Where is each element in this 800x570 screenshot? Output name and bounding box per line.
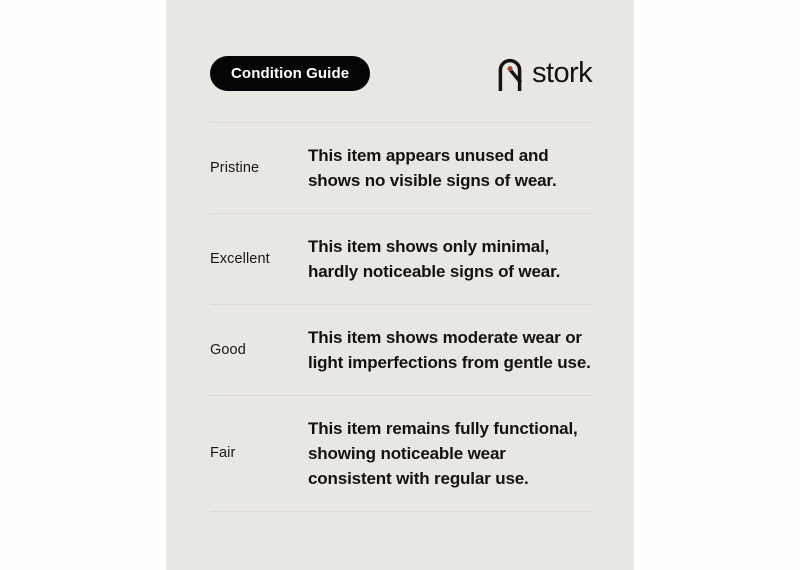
- condition-guide-table: Pristine This item appears unused and sh…: [210, 122, 592, 512]
- brand-wordmark: stork: [532, 59, 592, 88]
- card-header: Condition Guide stork: [166, 0, 634, 120]
- condition-description: This item remains fully functional, show…: [308, 396, 592, 511]
- condition-label: Excellent: [210, 250, 308, 269]
- stork-arch-logo-icon: [497, 57, 523, 91]
- condition-description: This item shows only minimal, hardly not…: [308, 214, 592, 304]
- table-row: Good This item shows moderate wear or li…: [210, 305, 592, 395]
- table-row: Fair This item remains fully functional,…: [210, 396, 592, 511]
- condition-label: Pristine: [210, 159, 308, 178]
- condition-guide-card: Condition Guide stork Pristine This item…: [166, 0, 634, 570]
- screenshot-stage: Condition Guide stork Pristine This item…: [0, 0, 800, 570]
- row-divider-bottom: [210, 511, 592, 512]
- condition-description: This item appears unused and shows no vi…: [308, 123, 592, 213]
- condition-guide-pill-label: Condition Guide: [231, 65, 349, 82]
- brand-lockup: stork: [497, 54, 592, 94]
- table-row: Pristine This item appears unused and sh…: [210, 123, 592, 213]
- condition-guide-pill[interactable]: Condition Guide: [210, 56, 370, 91]
- condition-label: Fair: [210, 444, 308, 463]
- table-row: Excellent This item shows only minimal, …: [210, 214, 592, 304]
- condition-label: Good: [210, 341, 308, 360]
- condition-description: This item shows moderate wear or light i…: [308, 305, 592, 395]
